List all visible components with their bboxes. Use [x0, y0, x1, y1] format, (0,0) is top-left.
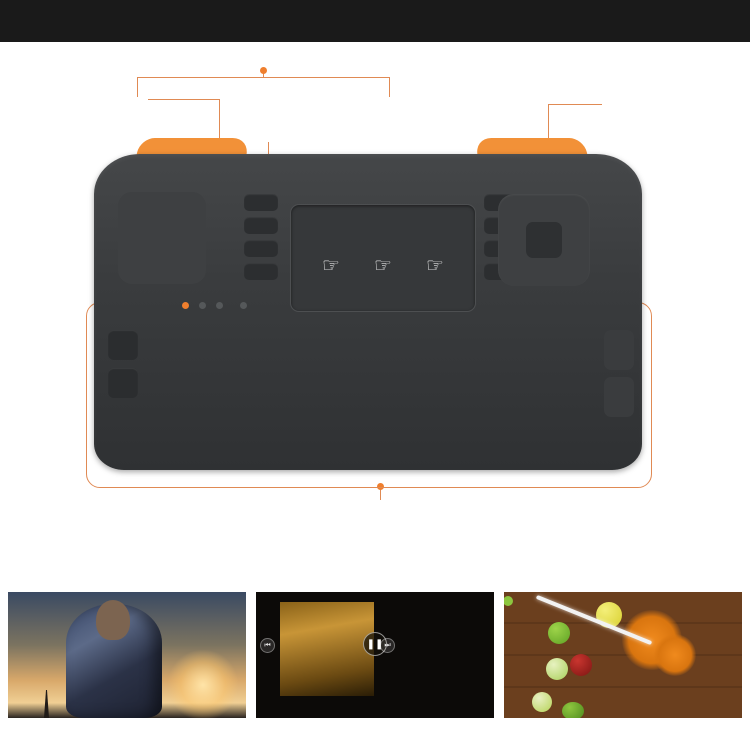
previous-track-icon[interactable]: ⏮ [260, 638, 275, 653]
mute-icon[interactable] [244, 240, 278, 257]
bracket-multimedia-keys [137, 77, 390, 97]
touchpad-gestures: ☞ ☞ ☞ [291, 255, 475, 276]
thumbnail-playing-fruit-ninja [504, 592, 742, 718]
scroll-hand-icon: ☞ [374, 256, 392, 276]
fruit-lime-slice [546, 658, 568, 680]
usage-thumbnails: ⏮ ❚❚ ⏭ [8, 592, 742, 718]
dot-multimedia-keys [260, 67, 267, 74]
album-title [280, 673, 374, 674]
navigation-keys [604, 330, 634, 424]
media-pad-background [118, 192, 206, 284]
battery-led [240, 302, 247, 309]
album-artist-line [280, 608, 374, 614]
device-body: ☞ ☞ ☞ [94, 154, 642, 470]
web-shortcut-keys [108, 330, 142, 406]
multi-touch-screen[interactable]: ☞ ☞ ☞ [290, 204, 476, 312]
gesture-left-click: ☞ [322, 255, 340, 276]
dpad-ok-button[interactable] [526, 222, 562, 258]
led-indicator [199, 302, 206, 309]
thumbnail-listening-to-music: ⏮ ❚❚ ⏭ [256, 592, 494, 718]
indicating-lights [182, 302, 302, 318]
fruit-green-apple [548, 622, 570, 644]
gesture-scroll: ☞ [374, 255, 392, 276]
mouse-icon[interactable] [244, 263, 278, 280]
caps-led [216, 302, 223, 309]
sun-glow [168, 650, 238, 718]
score-fruit-icon [504, 596, 513, 606]
next-track-icon[interactable]: ⏭ [380, 638, 395, 653]
juice-splat [654, 634, 696, 676]
power-icon[interactable] [244, 194, 278, 211]
album-art [280, 602, 374, 696]
qwerty-keyboard [148, 326, 656, 462]
home-pgup-key[interactable] [604, 330, 634, 370]
gesture-right-click: ☞ [426, 255, 444, 276]
www-key[interactable] [108, 330, 138, 360]
mail-icon[interactable] [244, 217, 278, 234]
fruit-watermelon [562, 702, 584, 718]
page-header [0, 0, 750, 42]
fruit-apple [570, 654, 592, 676]
thumbnail-watching-film [8, 592, 246, 718]
knight-head [96, 600, 130, 640]
multimedia-keys-section: ⏮ ❚❚ ⏭ [0, 500, 750, 750]
multimedia-keys-cluster [114, 192, 210, 288]
leader-right-mouse [548, 104, 602, 105]
mini-keyboard-device: ☞ ☞ ☞ [78, 110, 658, 480]
directional-keys [498, 194, 590, 286]
diagram-stage: ☞ ☞ ☞ [0, 42, 750, 500]
dotcom-key[interactable] [108, 368, 138, 398]
left-soft-key-column [244, 194, 278, 286]
bluetooth-led [182, 302, 189, 309]
fruit-apple-half [532, 692, 552, 712]
tower-silhouette [44, 690, 49, 718]
tap-hand-icon: ☞ [322, 256, 340, 276]
pgdn-end-key[interactable] [604, 377, 634, 417]
leader-left-mouse [148, 99, 220, 100]
tap-hand-icon: ☞ [426, 256, 444, 276]
